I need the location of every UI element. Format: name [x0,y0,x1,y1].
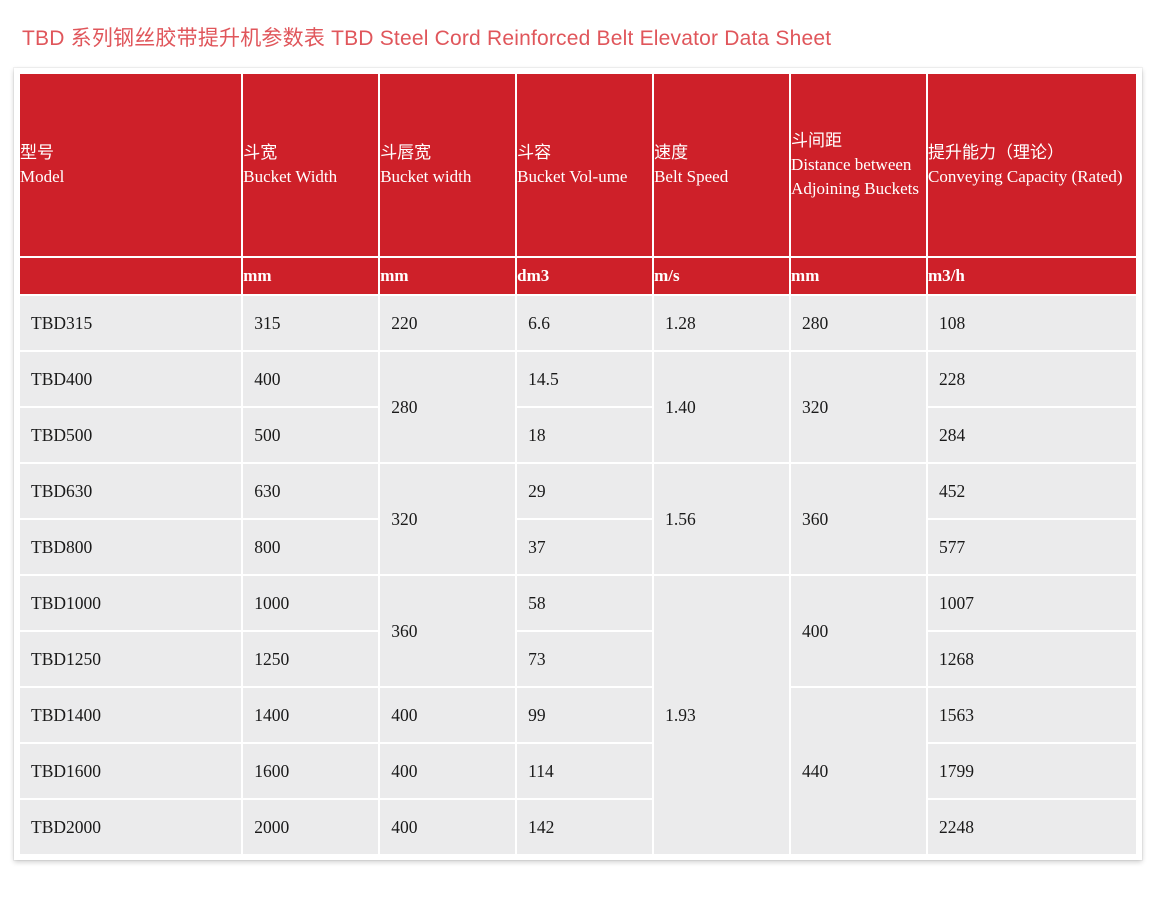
cell-model: TBD800 [20,520,241,574]
cell-conveying-capacity: 1007 [928,576,1136,630]
cell-bucket-width: 1250 [243,632,378,686]
header-bucket-volume-cn: 斗容 [517,141,652,165]
cell-conveying-capacity: 577 [928,520,1136,574]
unit-conveying-capacity: m3/h [928,258,1136,294]
header-belt-speed: 速度 Belt Speed [654,74,789,256]
cell-bucket-volume: 58 [517,576,652,630]
cell-bucket-volume: 14.5 [517,352,652,406]
unit-bucket-lip-width: mm [380,258,515,294]
unit-model [20,258,241,294]
header-model-en: Model [20,165,241,189]
cell-bucket-width: 500 [243,408,378,462]
cell-conveying-capacity: 1799 [928,744,1136,798]
cell-conveying-capacity: 228 [928,352,1136,406]
cell-model: TBD400 [20,352,241,406]
header-row-main: 型号 Model 斗宽 Bucket Width 斗唇宽 Bucket widt… [20,74,1136,256]
cell-model: TBD1250 [20,632,241,686]
unit-bucket-volume: dm3 [517,258,652,294]
header-conveying-capacity-cn: 提升能力（理论） [928,141,1136,165]
cell-conveying-capacity: 1268 [928,632,1136,686]
spec-table-container: 型号 Model 斗宽 Bucket Width 斗唇宽 Bucket widt… [14,68,1142,860]
table-row: TBD400 400 280 14.5 1.40 320 228 [20,352,1136,406]
header-conveying-capacity: 提升能力（理论） Conveying Capacity (Rated) [928,74,1136,256]
cell-bucket-distance: 440 [791,688,926,854]
cell-bucket-width: 1400 [243,688,378,742]
cell-conveying-capacity: 1563 [928,688,1136,742]
cell-belt-speed: 1.93 [654,576,789,854]
cell-bucket-width: 2000 [243,800,378,854]
unit-bucket-width: mm [243,258,378,294]
cell-model: TBD500 [20,408,241,462]
cell-bucket-distance: 280 [791,296,926,350]
cell-model: TBD1000 [20,576,241,630]
cell-bucket-volume: 142 [517,800,652,854]
cell-bucket-lip-width: 320 [380,464,515,574]
cell-conveying-capacity: 284 [928,408,1136,462]
cell-bucket-width: 800 [243,520,378,574]
table-row: TBD500 500 18 284 [20,408,1136,462]
table-header: 型号 Model 斗宽 Bucket Width 斗唇宽 Bucket widt… [20,74,1136,294]
cell-bucket-volume: 6.6 [517,296,652,350]
page-title: TBD 系列钢丝胶带提升机参数表 TBD Steel Cord Reinforc… [0,0,1156,51]
table-row: TBD800 800 37 577 [20,520,1136,574]
cell-bucket-lip-width: 400 [380,800,515,854]
table-row: TBD1600 1600 400 114 1799 [20,744,1136,798]
cell-bucket-volume: 37 [517,520,652,574]
cell-bucket-volume: 73 [517,632,652,686]
cell-belt-speed: 1.40 [654,352,789,462]
table-row: TBD1400 1400 400 99 440 1563 [20,688,1136,742]
cell-model: TBD2000 [20,800,241,854]
cell-conveying-capacity: 108 [928,296,1136,350]
header-bucket-volume-en: Bucket Vol-ume [517,165,652,189]
header-bucket-width: 斗宽 Bucket Width [243,74,378,256]
header-row-units: mm mm dm3 m/s mm m3/h [20,258,1136,294]
cell-bucket-volume: 99 [517,688,652,742]
cell-model: TBD1400 [20,688,241,742]
cell-bucket-width: 315 [243,296,378,350]
cell-conveying-capacity: 452 [928,464,1136,518]
cell-model: TBD630 [20,464,241,518]
header-bucket-width-en: Bucket Width [243,165,378,189]
cell-bucket-volume: 114 [517,744,652,798]
header-bucket-distance-en: Distance between Adjoining Buckets [791,153,926,201]
unit-belt-speed: m/s [654,258,789,294]
cell-bucket-volume: 29 [517,464,652,518]
header-conveying-capacity-en: Conveying Capacity (Rated) [928,165,1136,189]
cell-bucket-distance: 360 [791,464,926,574]
cell-bucket-width: 400 [243,352,378,406]
table-row: TBD2000 2000 400 142 2248 [20,800,1136,854]
unit-bucket-distance: mm [791,258,926,294]
cell-bucket-width: 1000 [243,576,378,630]
header-bucket-distance: 斗间距 Distance between Adjoining Buckets [791,74,926,256]
cell-bucket-lip-width: 220 [380,296,515,350]
table-row: TBD1000 1000 360 58 1.93 400 1007 [20,576,1136,630]
header-model-cn: 型号 [20,141,241,165]
cell-bucket-volume: 18 [517,408,652,462]
table-row: TBD630 630 320 29 1.56 360 452 [20,464,1136,518]
header-bucket-lip-width-cn: 斗唇宽 [380,141,515,165]
header-bucket-width-cn: 斗宽 [243,141,378,165]
table-row: TBD315 315 220 6.6 1.28 280 108 [20,296,1136,350]
header-belt-speed-en: Belt Speed [654,165,789,189]
table-body: TBD315 315 220 6.6 1.28 280 108 TBD400 4… [20,296,1136,854]
cell-conveying-capacity: 2248 [928,800,1136,854]
header-bucket-lip-width: 斗唇宽 Bucket width [380,74,515,256]
spec-table: 型号 Model 斗宽 Bucket Width 斗唇宽 Bucket widt… [18,72,1138,856]
cell-belt-speed: 1.56 [654,464,789,574]
cell-bucket-distance: 400 [791,576,926,686]
cell-bucket-lip-width: 360 [380,576,515,686]
cell-model: TBD1600 [20,744,241,798]
header-belt-speed-cn: 速度 [654,141,789,165]
cell-bucket-lip-width: 280 [380,352,515,462]
cell-model: TBD315 [20,296,241,350]
header-model: 型号 Model [20,74,241,256]
cell-bucket-width: 630 [243,464,378,518]
cell-bucket-width: 1600 [243,744,378,798]
table-row: TBD1250 1250 73 1268 [20,632,1136,686]
cell-bucket-lip-width: 400 [380,688,515,742]
header-bucket-distance-cn: 斗间距 [791,129,926,153]
cell-bucket-lip-width: 400 [380,744,515,798]
cell-belt-speed: 1.28 [654,296,789,350]
cell-bucket-distance: 320 [791,352,926,462]
header-bucket-lip-width-en: Bucket width [380,165,515,189]
header-bucket-volume: 斗容 Bucket Vol-ume [517,74,652,256]
